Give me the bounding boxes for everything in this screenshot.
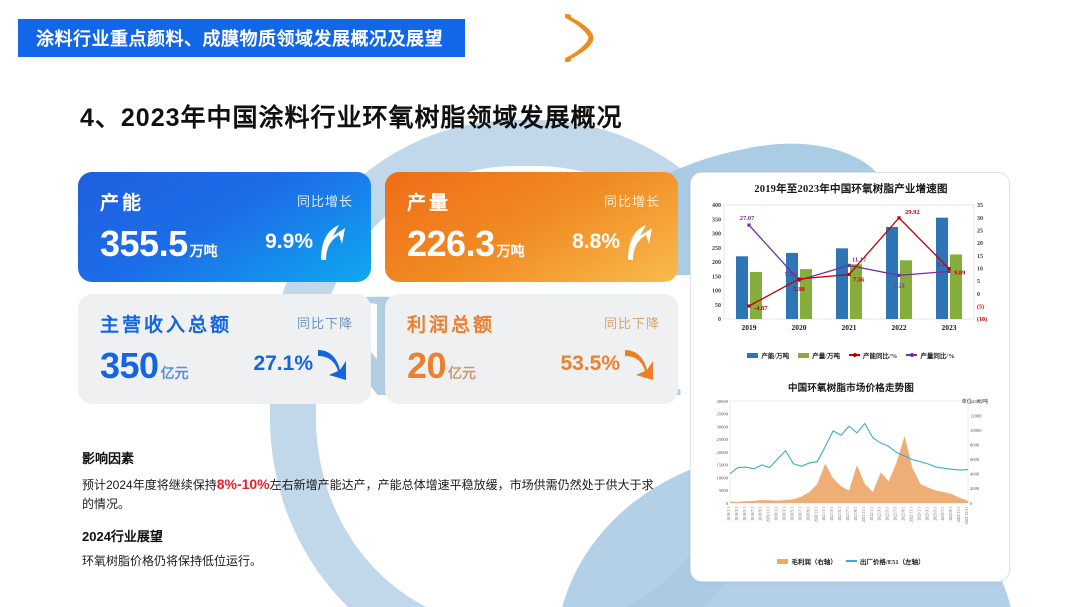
kpi-card-head: 主营收入总额 同比下降 [100, 310, 353, 337]
svg-text:15000: 15000 [717, 463, 729, 468]
kpi-card-body: 226.3 万吨 8.8% [407, 222, 660, 262]
svg-text:2020/1/1: 2020/1/1 [775, 507, 779, 521]
svg-text:25000: 25000 [717, 437, 729, 442]
notes-highlight-range: 8%-10% [217, 476, 270, 492]
svg-text:300: 300 [712, 232, 721, 238]
kpi-change: 8.8% [572, 222, 656, 262]
kpi-card-output[interactable]: 产量 同比增长 226.3 万吨 8.8% [385, 172, 678, 282]
svg-text:5000: 5000 [719, 488, 729, 493]
svg-text:2022/3/1: 2022/3/1 [878, 507, 882, 521]
svg-text:4000: 4000 [970, 472, 980, 477]
svg-text:2021: 2021 [842, 323, 857, 332]
legend-line-icon [846, 560, 857, 562]
kpi-unit: 万吨 [190, 241, 218, 261]
svg-text:2020/7/1: 2020/7/1 [798, 507, 802, 521]
kpi-card-head: 产量 同比增长 [407, 188, 660, 215]
legend-label: 毛利润（右轴） [791, 556, 837, 566]
svg-text:40000: 40000 [717, 399, 729, 404]
notes-heading-factors: 影响因素 [82, 448, 662, 467]
svg-text:2021/5/1: 2021/5/1 [838, 507, 842, 521]
kpi-label: 主营收入总额 [100, 310, 232, 337]
svg-text:29.92: 29.92 [905, 209, 920, 216]
svg-text:2022/5/1: 2022/5/1 [886, 507, 890, 521]
kpi-sub-label: 同比增长 [604, 191, 660, 210]
svg-text:30: 30 [977, 216, 983, 222]
legend-item: 产能/万吨 [747, 350, 789, 360]
svg-text:2023/11/1: 2023/11/1 [957, 507, 961, 522]
kpi-card-head: 产能 同比增长 [100, 188, 353, 215]
chart2-title: 中国环氧树脂市场价格走势图 [696, 380, 1006, 394]
svg-text:9.89: 9.89 [954, 270, 966, 277]
kpi-sub-label: 同比下降 [297, 313, 353, 332]
svg-text:15: 15 [977, 254, 983, 260]
legend-label: 产量/万吨 [812, 350, 840, 360]
arrow-up-icon [315, 222, 349, 262]
notes-heading-outlook: 2024行业展望 [82, 526, 662, 545]
legend-swatch-icon [777, 559, 788, 564]
kpi-metric: 226.3 万吨 [407, 226, 525, 262]
kpi-card-revenue[interactable]: 主营收入总额 同比下降 350 亿元 27.1% [78, 294, 371, 404]
svg-text:100: 100 [712, 289, 721, 295]
svg-text:35: 35 [977, 203, 983, 209]
chart-panel: 2019年至2023年中国环氧树脂产业增速图 05010015020025030… [690, 172, 1010, 582]
chart-industry-growth: 2019年至2023年中国环氧树脂产业增速图 05010015020025030… [696, 181, 1006, 377]
svg-text:2019/9/1: 2019/9/1 [759, 507, 763, 521]
legend-item: 产量/万吨 [798, 350, 840, 360]
svg-text:2022/1/1: 2022/1/1 [870, 507, 874, 521]
kpi-card-body: 355.5 万吨 9.9% [100, 222, 353, 262]
chart2-plot: 0500010000150002000025000300003500040000… [696, 395, 1006, 555]
kpi-grid: 产能 同比增长 355.5 万吨 9.9% [78, 172, 678, 404]
notes-section: 影响因素 预计2024年度将继续保持8%-10%左右新增产能达产，产能总体增速平… [82, 448, 662, 570]
svg-text:2021/9/1: 2021/9/1 [854, 507, 858, 521]
kpi-label: 产量 [407, 188, 451, 215]
svg-text:2019/5/1: 2019/5/1 [743, 507, 747, 521]
arrow-up-icon [622, 222, 656, 262]
svg-text:2019/7/1: 2019/7/1 [751, 507, 755, 521]
kpi-card-head: 利润总额 同比下降 [407, 310, 660, 337]
svg-text:5: 5 [977, 279, 980, 285]
svg-text:30000: 30000 [717, 424, 729, 429]
kpi-value: 355.5 [100, 226, 188, 262]
kpi-card-body: 20 亿元 53.5% [407, 344, 660, 384]
legend-swatch-icon [747, 353, 758, 358]
kpi-sub-label: 同比下降 [604, 313, 660, 332]
kpi-label: 利润总额 [407, 310, 495, 337]
svg-text:2019: 2019 [742, 323, 757, 332]
svg-text:2021/7/1: 2021/7/1 [846, 507, 850, 521]
svg-text:2021/11/1: 2021/11/1 [862, 507, 866, 522]
svg-text:8.8: 8.8 [937, 261, 946, 268]
kpi-card-profit[interactable]: 利润总额 同比下降 20 亿元 53.5% [385, 294, 678, 404]
kpi-change: 9.9% [265, 222, 349, 262]
svg-text:5.31: 5.31 [785, 271, 796, 278]
svg-text:0: 0 [977, 292, 980, 298]
svg-text:2023/3/1: 2023/3/1 [925, 507, 929, 521]
svg-text:25: 25 [977, 229, 983, 235]
svg-text:8000: 8000 [970, 443, 980, 448]
legend-label: 出厂价格/E51（左轴） [860, 556, 925, 566]
slide-root: NCIA 涂料行业重点颜料、成膜物质领域发展概况及展望 4、2023年中国涂料行… [0, 0, 1080, 607]
svg-text:350: 350 [712, 217, 721, 223]
header-banner: 涂料行业重点颜料、成膜物质领域发展概况及展望 [18, 19, 465, 57]
svg-text:(10): (10) [977, 316, 987, 323]
svg-text:7.56: 7.56 [853, 277, 865, 284]
svg-text:2023/5/1: 2023/5/1 [933, 507, 937, 521]
svg-text:2023: 2023 [942, 323, 957, 332]
legend-label: 产能同比/% [863, 350, 897, 360]
svg-text:0: 0 [718, 317, 721, 323]
svg-text:2022/9/1: 2022/9/1 [902, 507, 906, 521]
kpi-value: 350 [100, 348, 159, 384]
notes-body-pre: 预计2024年度将继续保持 [82, 478, 217, 492]
chart2-legend: 毛利润（右轴） 出厂价格/E51（左轴） [696, 556, 1006, 566]
chart2-unit-note: 单位：元/吨 [962, 398, 988, 405]
svg-text:7.22: 7.22 [893, 282, 904, 289]
legend-item: 出厂价格/E51（左轴） [846, 556, 925, 566]
svg-text:10000: 10000 [717, 475, 729, 480]
svg-text:(5): (5) [977, 304, 984, 311]
kpi-card-capacity[interactable]: 产能 同比增长 355.5 万吨 9.9% [78, 172, 371, 282]
notes-body-outlook: 环氧树脂价格仍将保持低位运行。 [82, 552, 662, 570]
svg-text:-4.87: -4.87 [754, 305, 768, 312]
svg-text:6000: 6000 [970, 457, 980, 462]
legend-line-icon [906, 354, 917, 356]
svg-text:2019/11/1: 2019/11/1 [767, 507, 771, 522]
legend-label: 产能/万吨 [761, 350, 789, 360]
banner-tail-accent [565, 14, 599, 62]
svg-text:20000: 20000 [717, 450, 729, 455]
kpi-unit: 亿元 [448, 363, 476, 383]
svg-text:2020/3/1: 2020/3/1 [783, 507, 787, 521]
svg-text:2020/5/1: 2020/5/1 [790, 507, 794, 521]
svg-text:250: 250 [712, 246, 721, 252]
svg-text:20: 20 [977, 241, 983, 247]
svg-text:2020/9/1: 2020/9/1 [806, 507, 810, 521]
chart1-legend: 产能/万吨 产量/万吨 产能同比/% 产量同比/% [696, 350, 1006, 360]
kpi-card-body: 350 亿元 27.1% [100, 344, 353, 384]
kpi-metric: 355.5 万吨 [100, 226, 218, 262]
banner-title: 涂料行业重点颜料、成膜物质领域发展概况及展望 [36, 25, 443, 51]
kpi-change-value: 27.1% [253, 352, 313, 376]
svg-text:10: 10 [977, 267, 983, 273]
chart1-title: 2019年至2023年中国环氧树脂产业增速图 [696, 181, 1006, 196]
svg-text:2021/1/1: 2021/1/1 [822, 507, 826, 521]
kpi-value: 226.3 [407, 226, 495, 262]
kpi-row-top: 产能 同比增长 355.5 万吨 9.9% [78, 172, 678, 282]
kpi-change: 27.1% [253, 344, 349, 384]
svg-text:2020/11/1: 2020/11/1 [814, 507, 818, 522]
kpi-value: 20 [407, 348, 446, 384]
legend-item: 产能同比/% [849, 350, 897, 360]
kpi-change-value: 8.8% [572, 230, 620, 254]
kpi-sub-label: 同比增长 [297, 191, 353, 210]
svg-text:2022: 2022 [892, 323, 907, 332]
svg-text:2019/3/1: 2019/3/1 [735, 507, 739, 521]
svg-text:2023/12/31: 2023/12/31 [965, 507, 969, 524]
svg-text:5.80: 5.80 [793, 286, 804, 293]
svg-text:2022/7/1: 2022/7/1 [894, 507, 898, 521]
notes-body-factors: 预计2024年度将继续保持8%-10%左右新增产能达产，产能总体增速平稳放缓，市… [82, 474, 662, 513]
svg-text:2023/9/1: 2023/9/1 [949, 507, 953, 521]
chart-price-trend: 中国环氧树脂市场价格走势图 单位：元/吨 0500010000150002000… [696, 380, 1006, 580]
kpi-row-bottom: 主营收入总额 同比下降 350 亿元 27.1% [78, 294, 678, 404]
svg-text:0: 0 [970, 501, 973, 506]
legend-swatch-icon [798, 353, 809, 358]
svg-text:2022/11/1: 2022/11/1 [909, 507, 913, 522]
arrow-down-icon [622, 344, 656, 384]
svg-text:2021/3/1: 2021/3/1 [830, 507, 834, 521]
svg-text:200: 200 [712, 260, 721, 266]
svg-text:150: 150 [712, 274, 721, 280]
chart1-plot: 05010015020025030035040035302520151050(5… [696, 197, 1006, 349]
legend-line-icon [849, 354, 860, 356]
svg-text:27.07: 27.07 [740, 215, 755, 222]
legend-label: 产量同比/% [920, 350, 954, 360]
legend-item: 产量同比/% [906, 350, 954, 360]
svg-text:10000: 10000 [970, 428, 982, 433]
kpi-unit: 万吨 [497, 241, 525, 261]
page-title: 4、2023年中国涂料行业环氧树脂领域发展概况 [80, 98, 623, 134]
svg-text:2000: 2000 [970, 486, 980, 491]
svg-text:50: 50 [715, 303, 721, 309]
arrow-down-icon [315, 344, 349, 384]
svg-text:0: 0 [726, 501, 729, 506]
svg-text:2019/1/1: 2019/1/1 [727, 507, 731, 521]
kpi-change-value: 9.9% [265, 230, 313, 254]
legend-item: 毛利润（右轴） [777, 556, 837, 566]
kpi-unit: 亿元 [161, 363, 189, 383]
kpi-change-value: 53.5% [560, 352, 620, 376]
kpi-metric: 350 亿元 [100, 348, 189, 384]
svg-text:2020: 2020 [792, 323, 807, 332]
svg-text:12000: 12000 [970, 413, 982, 418]
kpi-change: 53.5% [560, 344, 656, 384]
kpi-metric: 20 亿元 [407, 348, 476, 384]
svg-text:400: 400 [712, 203, 721, 209]
svg-text:2023/7/1: 2023/7/1 [941, 507, 945, 521]
svg-text:11.17: 11.17 [852, 256, 867, 263]
svg-text:35000: 35000 [717, 412, 729, 417]
kpi-label: 产能 [100, 188, 144, 215]
svg-text:2023/1/1: 2023/1/1 [917, 507, 921, 521]
